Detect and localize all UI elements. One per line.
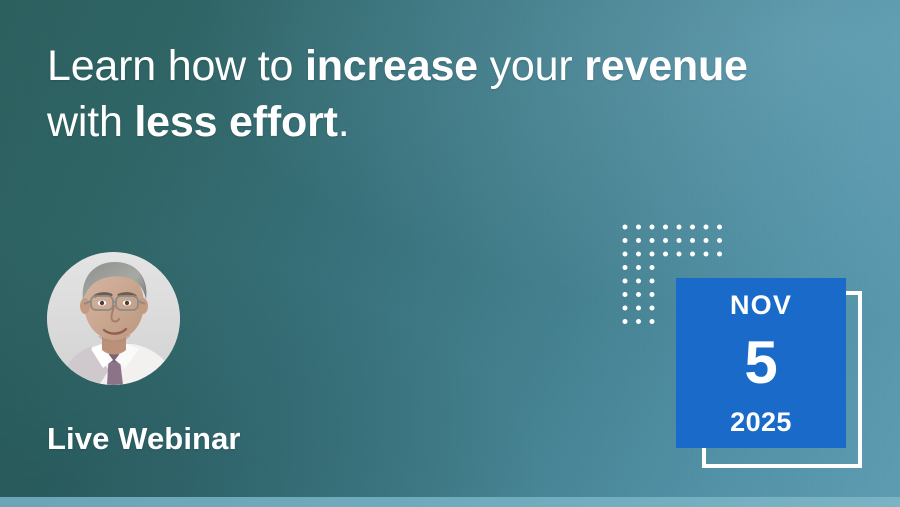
date-month: NOV [730,292,792,319]
avatar [47,252,180,385]
headline-segment-bold-less-effort: less effort [134,98,337,146]
headline-segment-period: . [338,98,350,146]
bottom-accent-strip [0,497,900,507]
headline-segment-plain: Learn how to [47,42,305,90]
avatar-photo [47,252,180,385]
headline-segment-bold-increase: increase [305,42,478,90]
headline-segment-plain-with: with [47,98,134,146]
headline: Learn how to increase your revenuewith l… [47,38,837,150]
date-badge[interactable]: NOV 5 2025 [676,278,846,448]
event-type-label: Live Webinar [47,421,241,457]
headline-segment-plain-your: your [478,42,584,90]
date-year: 2025 [730,409,792,436]
headline-segment-bold-revenue: revenue [584,42,748,90]
date-day: 5 [744,333,777,393]
webinar-promo-banner: Learn how to increase your revenuewith l… [0,0,900,507]
